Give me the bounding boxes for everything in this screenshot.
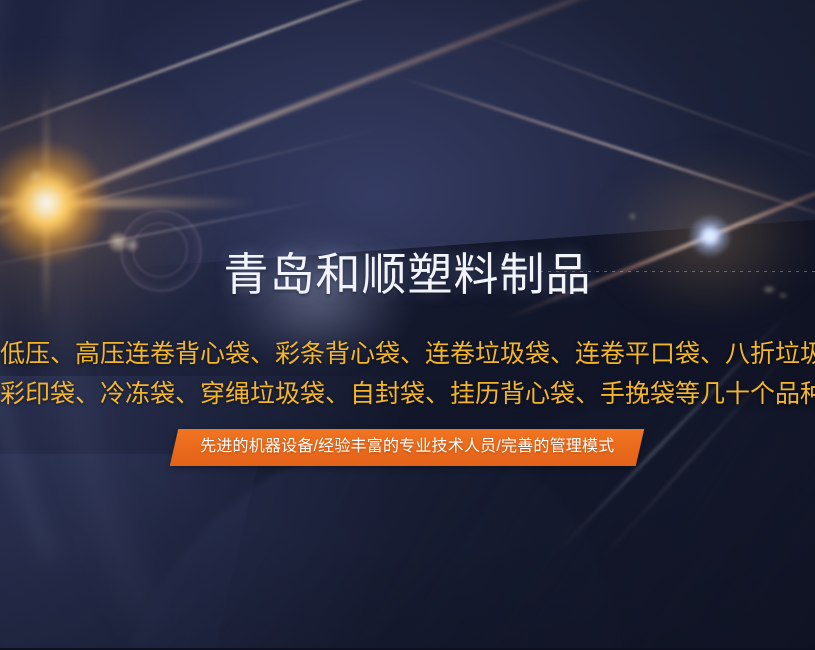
company-title: 青岛和顺塑料制品 <box>0 247 815 303</box>
tagline-ribbon: 先进的机器设备/经验丰富的专业技术人员/完善的管理模式 <box>170 429 645 466</box>
promo-banner: 青岛和顺塑料制品 低压、高压连卷背心袋、彩条背心袋、连卷垃圾袋、连卷平口袋、八折… <box>0 0 815 650</box>
tagline-ribbon-wrap: 先进的机器设备/经验丰富的专业技术人员/完善的管理模式 <box>0 429 815 466</box>
product-list: 低压、高压连卷背心袋、彩条背心袋、连卷垃圾袋、连卷平口袋、八折垃圾袋、 彩印袋、… <box>0 334 815 414</box>
banner-content: 青岛和顺塑料制品 低压、高压连卷背心袋、彩条背心袋、连卷垃圾袋、连卷平口袋、八折… <box>0 0 815 648</box>
tagline-ribbon-text: 先进的机器设备/经验丰富的专业技术人员/完善的管理模式 <box>200 437 614 457</box>
product-list-line-1: 低压、高压连卷背心袋、彩条背心袋、连卷垃圾袋、连卷平口袋、八折垃圾袋、 <box>0 334 815 374</box>
product-list-line-2: 彩印袋、冷冻袋、穿绳垃圾袋、自封袋、挂历背心袋、手挽袋等几十个品种 <box>0 374 815 414</box>
